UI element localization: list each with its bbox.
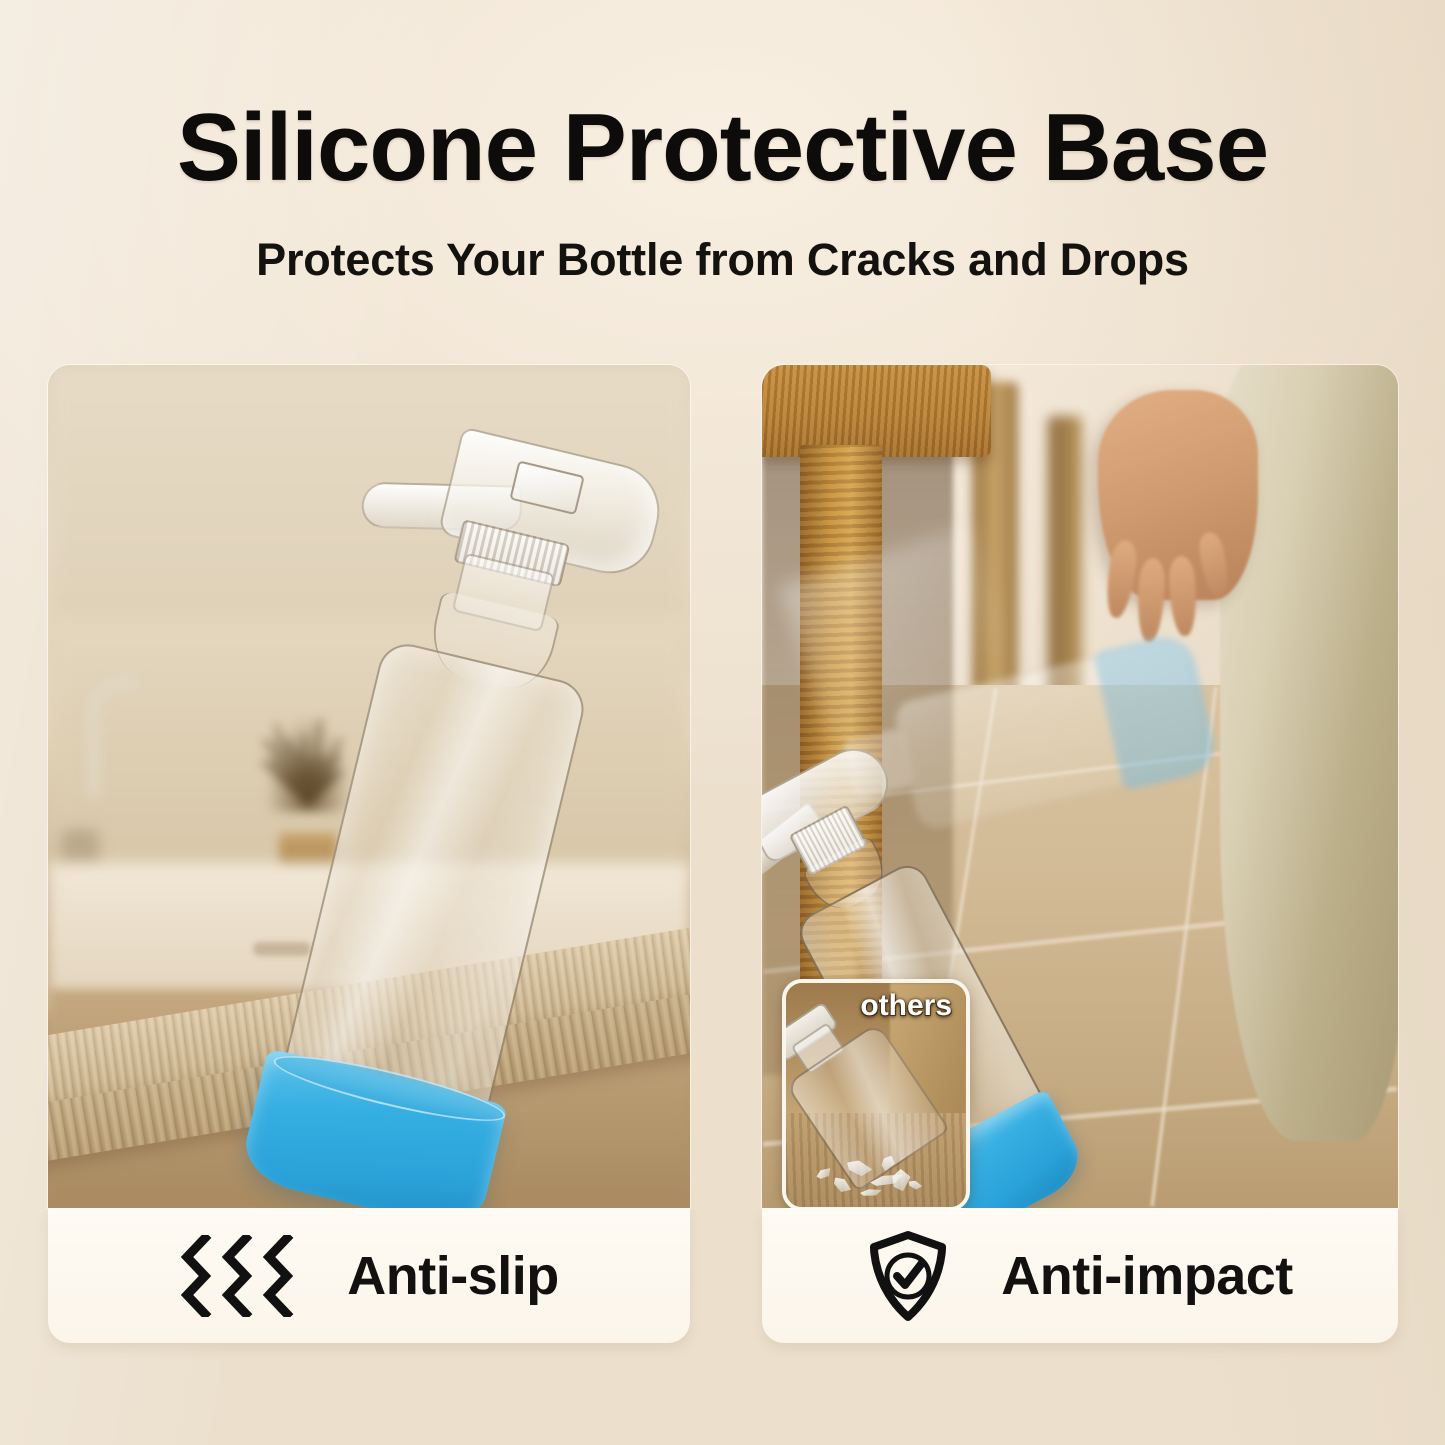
feature-panels: Anti-slip [48,365,1398,1343]
anti-slip-photo [48,365,690,1208]
person-foot [1229,1108,1353,1208]
spray-head-window [509,460,584,515]
anti-impact-label: Anti-impact [1001,1245,1293,1307]
faucet-icon [87,677,139,797]
panel-anti-impact: others Anti-impact [762,365,1398,1343]
header: Silicone Protective Base Protects Your B… [0,0,1445,286]
page-subtitle: Protects Your Bottle from Cracks and Dro… [0,196,1445,286]
table-apron [762,365,991,457]
anti-slip-label-card: Anti-slip [48,1208,690,1343]
reaching-hand [1098,390,1258,600]
anti-impact-label-card: Anti-impact [762,1208,1398,1343]
page-title: Silicone Protective Base [0,0,1445,196]
anti-slip-label: Anti-slip [347,1245,558,1307]
finger [1197,531,1232,600]
zigzag-lines-icon [179,1235,295,1317]
anti-impact-photo: others [762,365,1398,1208]
panel-anti-slip: Anti-slip [48,365,690,1343]
others-comparison-inset: others [782,979,970,1208]
others-label: others [860,989,952,1023]
shield-check-icon [867,1230,949,1322]
